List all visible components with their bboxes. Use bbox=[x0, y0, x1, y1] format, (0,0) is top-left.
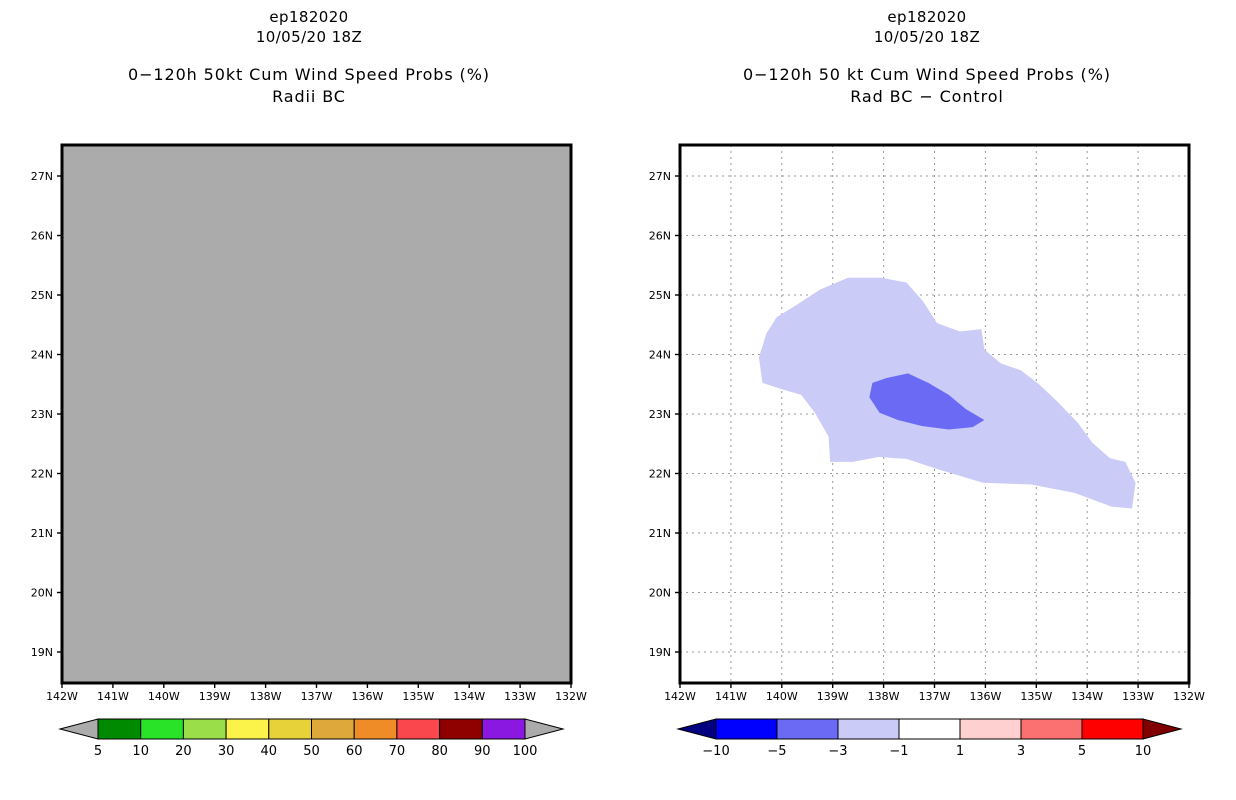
colorbar-tick-label: −10 bbox=[702, 744, 729, 759]
x-tick-label: 142W bbox=[46, 690, 78, 703]
colorbar-band bbox=[716, 719, 777, 739]
y-tick-label: 21N bbox=[31, 527, 53, 540]
colorbar-tick-label: 90 bbox=[474, 744, 491, 759]
colorbar-tick-label: −1 bbox=[889, 744, 908, 759]
colorbar-tick-label: 80 bbox=[431, 744, 448, 759]
x-tick-label: 139W bbox=[199, 690, 231, 703]
y-tick-label: 24N bbox=[31, 349, 53, 362]
plot-right: 142W141W140W139W138W137W136W135W134W133W… bbox=[618, 0, 1236, 800]
x-tick-label: 136W bbox=[969, 690, 1001, 703]
x-tick-label: 132W bbox=[555, 690, 587, 703]
plot-background bbox=[62, 145, 571, 683]
x-tick-label: 137W bbox=[919, 690, 951, 703]
colorbar-tick-label: 60 bbox=[346, 744, 363, 759]
colorbar-band bbox=[312, 719, 355, 739]
y-tick-label: 27N bbox=[31, 170, 53, 183]
y-tick-label: 26N bbox=[31, 230, 53, 243]
x-tick-label: 140W bbox=[766, 690, 798, 703]
colorbar: −10−5−3−113510 bbox=[678, 719, 1181, 759]
colorbar-band bbox=[226, 719, 269, 739]
y-tick-label: 19N bbox=[31, 646, 53, 659]
colorbar-tick-label: 10 bbox=[132, 744, 149, 759]
colorbar-tick-label: 30 bbox=[218, 744, 235, 759]
colorbar-band bbox=[440, 719, 483, 739]
x-tick-label: 138W bbox=[868, 690, 900, 703]
plot-left-svg: 142W141W140W139W138W137W136W135W134W133W… bbox=[0, 0, 618, 800]
x-tick-label: 134W bbox=[453, 690, 485, 703]
y-tick-label: 24N bbox=[649, 349, 671, 362]
colorbar-tick-label: 5 bbox=[1078, 744, 1086, 759]
y-tick-label: 27N bbox=[649, 170, 671, 183]
x-axis: 142W141W140W139W138W137W136W135W134W133W… bbox=[664, 683, 1205, 703]
colorbar-under-arrow bbox=[60, 719, 98, 739]
colorbar-tick-label: 20 bbox=[175, 744, 192, 759]
y-tick-label: 20N bbox=[31, 587, 53, 600]
colorbar-band bbox=[397, 719, 440, 739]
colorbar-under-arrow bbox=[678, 719, 716, 739]
colorbar-tick-label: 5 bbox=[94, 744, 102, 759]
x-tick-label: 141W bbox=[97, 690, 129, 703]
colorbar-band bbox=[269, 719, 312, 739]
colorbar-tick-label: 100 bbox=[513, 744, 538, 759]
x-tick-label: 142W bbox=[664, 690, 696, 703]
colorbar-band bbox=[183, 719, 226, 739]
colorbar-tick-label: 3 bbox=[1017, 744, 1025, 759]
y-tick-label: 22N bbox=[31, 468, 53, 481]
colorbar-band bbox=[98, 719, 141, 739]
colorbar-band bbox=[777, 719, 838, 739]
colorbar-band bbox=[1021, 719, 1082, 739]
y-tick-label: 21N bbox=[649, 527, 671, 540]
panel-left: ep182020 10/05/20 18Z 0−120h 50kt Cum Wi… bbox=[0, 0, 618, 800]
y-axis: 27N26N25N24N23N22N21N20N19N bbox=[649, 170, 680, 659]
y-tick-label: 22N bbox=[649, 468, 671, 481]
x-tick-label: 139W bbox=[817, 690, 849, 703]
x-axis: 142W141W140W139W138W137W136W135W134W133W… bbox=[46, 683, 587, 703]
y-tick-label: 23N bbox=[649, 408, 671, 421]
y-tick-label: 19N bbox=[649, 646, 671, 659]
colorbar-tick-label: −5 bbox=[767, 744, 786, 759]
colorbar-band bbox=[482, 719, 525, 739]
x-tick-label: 140W bbox=[148, 690, 180, 703]
x-tick-label: 132W bbox=[1173, 690, 1205, 703]
panel-right: ep182020 10/05/20 18Z 0−120h 50 kt Cum W… bbox=[618, 0, 1236, 800]
x-tick-label: 133W bbox=[504, 690, 536, 703]
x-tick-label: 138W bbox=[250, 690, 282, 703]
x-tick-label: 133W bbox=[1122, 690, 1154, 703]
plot-left: 142W141W140W139W138W137W136W135W134W133W… bbox=[0, 0, 618, 800]
colorbar-tick-label: 70 bbox=[389, 744, 406, 759]
colorbar-band bbox=[141, 719, 184, 739]
y-tick-label: 25N bbox=[649, 289, 671, 302]
colorbar-band bbox=[960, 719, 1021, 739]
y-tick-label: 26N bbox=[649, 230, 671, 243]
colorbar-over-arrow bbox=[525, 719, 563, 739]
x-tick-label: 137W bbox=[301, 690, 333, 703]
x-tick-label: 136W bbox=[351, 690, 383, 703]
colorbar-band bbox=[838, 719, 899, 739]
colorbar-tick-label: 40 bbox=[261, 744, 278, 759]
colorbar-tick-label: 1 bbox=[956, 744, 964, 759]
x-tick-label: 141W bbox=[715, 690, 747, 703]
colorbar-over-arrow bbox=[1143, 719, 1181, 739]
colorbar-band bbox=[1082, 719, 1143, 739]
colorbar: 5102030405060708090100 bbox=[60, 719, 563, 759]
x-tick-label: 134W bbox=[1071, 690, 1103, 703]
colorbar-band bbox=[354, 719, 397, 739]
y-axis: 27N26N25N24N23N22N21N20N19N bbox=[31, 170, 62, 659]
colorbar-band bbox=[899, 719, 960, 739]
colorbar-tick-label: −3 bbox=[828, 744, 847, 759]
colorbar-tick-label: 50 bbox=[303, 744, 320, 759]
y-tick-label: 23N bbox=[31, 408, 53, 421]
x-tick-label: 135W bbox=[1020, 690, 1052, 703]
plot-right-svg: 142W141W140W139W138W137W136W135W134W133W… bbox=[618, 0, 1236, 800]
y-tick-label: 20N bbox=[649, 587, 671, 600]
colorbar-tick-label: 10 bbox=[1135, 744, 1152, 759]
y-tick-label: 25N bbox=[31, 289, 53, 302]
x-tick-label: 135W bbox=[402, 690, 434, 703]
